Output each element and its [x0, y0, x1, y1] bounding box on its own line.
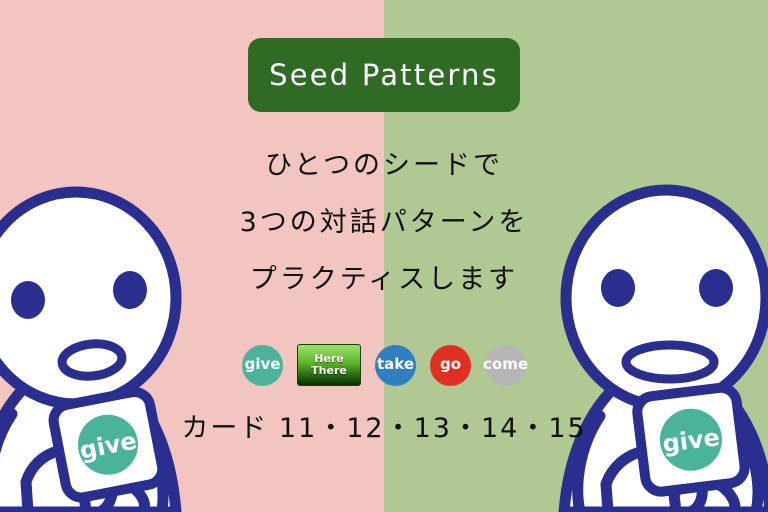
headline-block: ひとつのシードで 3つの対話パターンを プラクティスします	[0, 152, 768, 293]
title-banner: Seed Patterns	[248, 38, 520, 112]
badge-row: give Here There take go come	[0, 344, 768, 386]
slide-canvas: give give Seed Patterns ひとつのシードで 3つの対話パタ…	[0, 0, 768, 512]
badge-give-label: give	[245, 357, 281, 373]
badge-go[interactable]: go	[430, 345, 471, 386]
badge-take[interactable]: take	[375, 345, 416, 386]
badge-go-label: go	[440, 357, 461, 373]
headline-line-3: プラクティスします	[0, 266, 768, 293]
card-number-line: カード 11・12・13・14・15	[0, 406, 768, 445]
headline-line-2: 3つの対話パターンを	[0, 209, 768, 236]
badge-take-label: take	[377, 357, 414, 373]
page-title: Seed Patterns	[269, 58, 499, 92]
badge-here-there[interactable]: Here There	[297, 344, 361, 386]
badge-come-label: come	[483, 357, 528, 373]
headline-line-1: ひとつのシードで	[0, 152, 768, 179]
badge-come[interactable]: come	[485, 345, 526, 386]
badge-there-label: There	[311, 365, 347, 377]
badge-give[interactable]: give	[242, 345, 283, 386]
